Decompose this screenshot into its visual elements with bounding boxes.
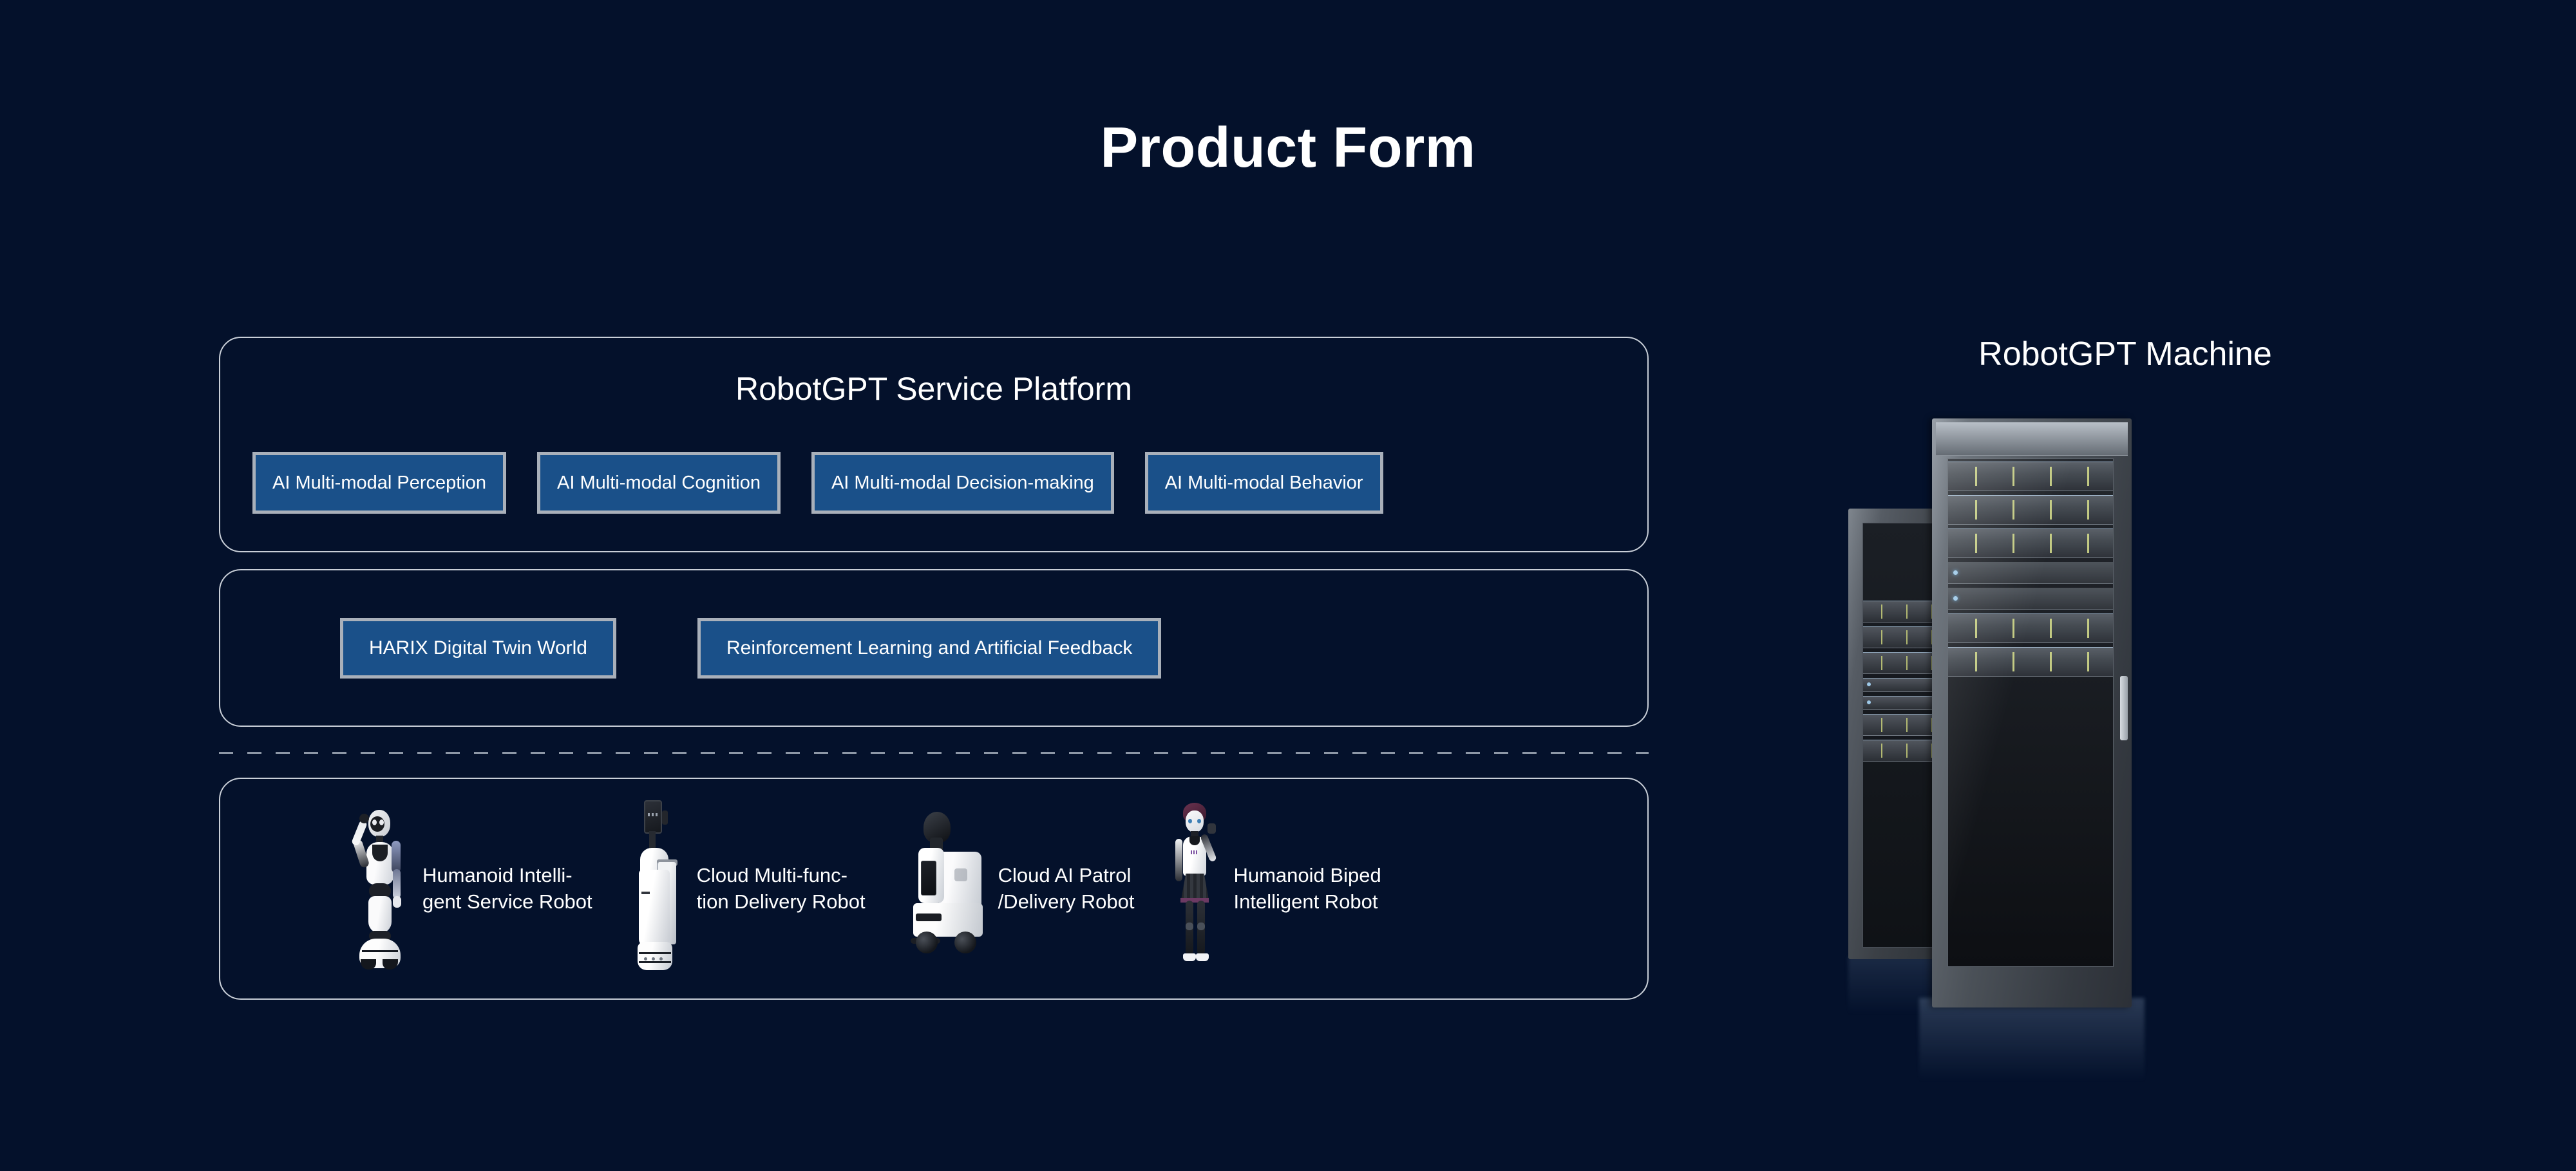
humanoid-service-robot-icon — [349, 802, 411, 976]
robot-item-humanoid-biped[interactable]: Humanoid Biped Intelligent Robot — [1168, 803, 1381, 975]
robot-item-patrol-delivery[interactable]: Cloud AI Patrol /Delivery Robot — [890, 812, 1135, 966]
foundation-row: HARIX Digital Twin World Reinforcement L… — [220, 570, 1647, 726]
platform-column: RobotGPT Service Platform AI Multi-modal… — [219, 337, 1649, 1000]
slide-canvas: Product Form RobotGPT Service Platform A… — [0, 0, 2576, 1171]
capability-behavior[interactable]: AI Multi-modal Behavior — [1145, 452, 1383, 514]
rack-reflection-primary — [1919, 998, 2145, 1082]
robot-label-cloud-delivery: Cloud Multi-func- tion Delivery Robot — [697, 863, 866, 915]
humanoid-biped-robot-icon — [1168, 803, 1222, 975]
patrol-delivery-robot-icon — [890, 812, 987, 966]
robot-products-panel: Humanoid Intelli- gent Service Robot Clo… — [219, 778, 1649, 1000]
section-divider — [219, 752, 1649, 754]
foundation-harix-digital-twin[interactable]: HARIX Digital Twin World — [340, 618, 616, 679]
machine-title: RobotGPT Machine — [1842, 335, 2409, 373]
server-rack-primary — [1932, 418, 2132, 1007]
capability-decision-making[interactable]: AI Multi-modal Decision-making — [811, 452, 1114, 514]
robot-item-humanoid-service[interactable]: Humanoid Intelli- gent Service Robot — [349, 802, 592, 976]
robot-item-cloud-delivery[interactable]: Cloud Multi-func- tion Delivery Robot — [630, 799, 866, 979]
robot-row: Humanoid Intelli- gent Service Robot Clo… — [220, 779, 1647, 998]
robot-label-patrol-delivery: Cloud AI Patrol /Delivery Robot — [998, 863, 1135, 915]
cloud-delivery-robot-icon — [630, 799, 685, 979]
server-rack-icon — [1842, 418, 2409, 1062]
capability-perception[interactable]: AI Multi-modal Perception — [252, 452, 506, 514]
page-title: Product Form — [0, 115, 2576, 180]
service-platform-panel: RobotGPT Service Platform AI Multi-modal… — [219, 337, 1649, 552]
capability-row: AI Multi-modal Perception AI Multi-modal… — [252, 452, 1383, 514]
robot-label-humanoid-service: Humanoid Intelli- gent Service Robot — [422, 863, 592, 915]
foundation-panel: HARIX Digital Twin World Reinforcement L… — [219, 569, 1649, 727]
platform-heading: RobotGPT Service Platform — [220, 370, 1647, 408]
machine-column: RobotGPT Machine — [1842, 335, 2409, 1062]
rack-door-handle[interactable] — [2120, 676, 2128, 740]
foundation-reinforcement-learning[interactable]: Reinforcement Learning and Artificial Fe… — [697, 618, 1161, 679]
capability-cognition[interactable]: AI Multi-modal Cognition — [537, 452, 781, 514]
robot-label-humanoid-biped: Humanoid Biped Intelligent Robot — [1233, 863, 1381, 915]
